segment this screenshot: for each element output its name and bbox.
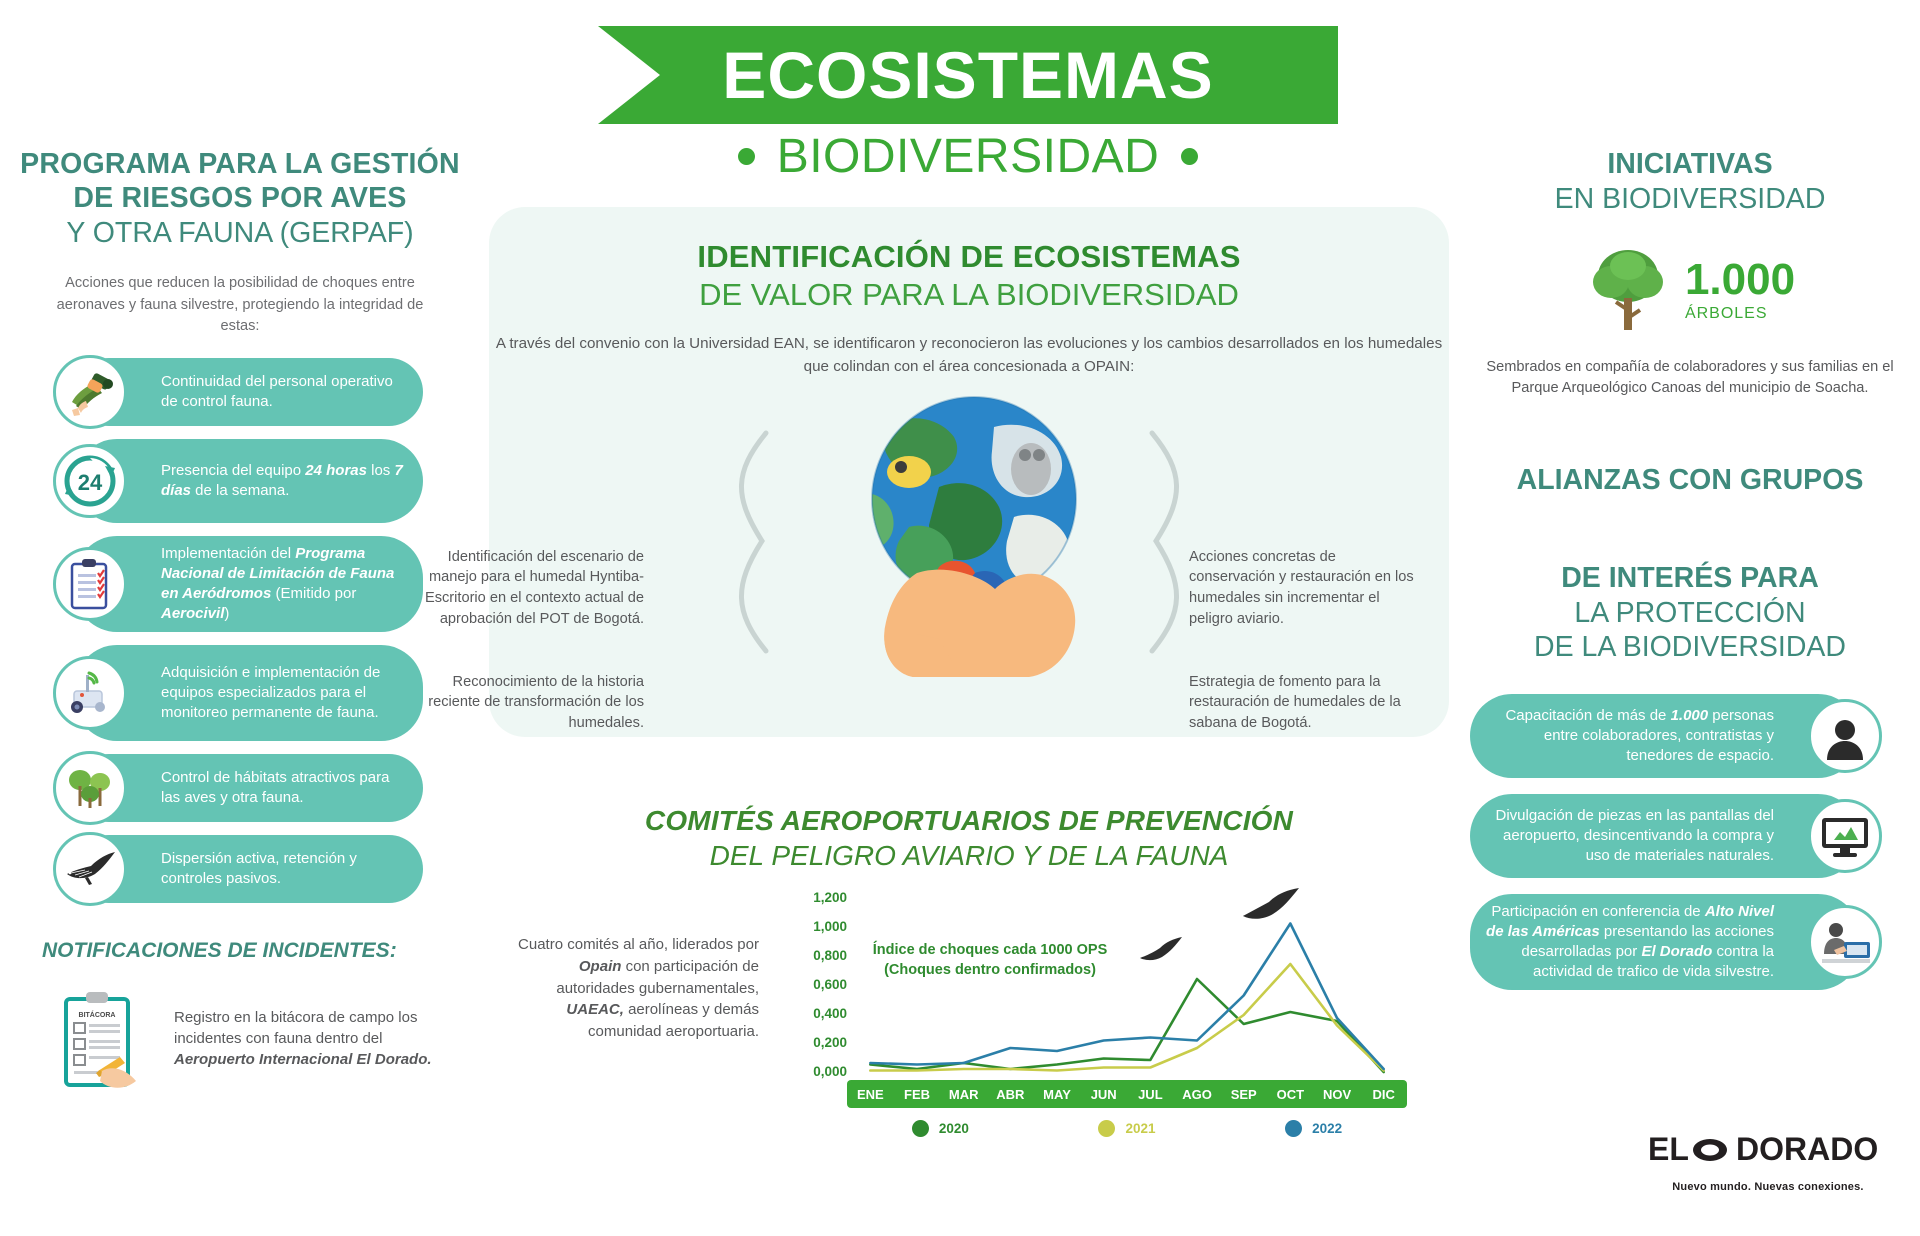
list-item-text-pre: Capacitación de más de: [1505, 707, 1670, 724]
y-tick-label: 0,000: [777, 1064, 847, 1079]
right-heading2-line1: ALIANZAS CON GRUPOS: [1470, 463, 1910, 497]
24-hours-icon: 24: [53, 444, 127, 518]
list-item-label: Dispersión activa, retención y controles…: [161, 849, 409, 889]
y-tick-label: 0,200: [777, 1035, 847, 1050]
list-item-text-pre: Participación en conferencia de: [1491, 903, 1704, 920]
list-item[interactable]: Participación en conferencia de Alto Niv…: [1470, 894, 1860, 990]
binoculars-icon: [53, 355, 127, 429]
center-paragraph: A través del convenio con la Universidad…: [489, 333, 1449, 379]
list-item[interactable]: Implementación del Programa Nacional de …: [75, 536, 423, 632]
bullet-dot-right-icon: [1181, 148, 1198, 165]
list-item-text-post: ): [224, 605, 229, 622]
left-pill-list: Continuidad del personal operativo de co…: [20, 358, 460, 903]
list-item-bold: 1.000: [1671, 707, 1709, 724]
annotation-left-top: Identificación del escenario de manejo p…: [404, 547, 644, 630]
list-item-text-mid: los: [367, 462, 395, 479]
x-tick-label: ENE: [847, 1087, 894, 1102]
left-heading-line3: Y OTRA FAUNA (GERPAF): [20, 216, 460, 250]
chart-side-bold-1: Opain: [579, 958, 622, 975]
tree-stat-row: 1.000 ÁRBOLES: [1470, 242, 1910, 339]
list-item[interactable]: Control de hábitats atractivos para las …: [75, 754, 423, 822]
legend-swatch-2020: [912, 1120, 929, 1137]
trees-icon: [53, 751, 127, 825]
center-heading-bold: IDENTIFICACIÓN DE ECOSISTEMAS: [489, 239, 1449, 275]
legend-label: 2020: [939, 1121, 969, 1136]
legend-label: 2022: [1312, 1121, 1342, 1136]
list-item-label: Divulgación de piezas en las pantallas d…: [1486, 806, 1774, 866]
list-item-text-pre: Presencia del equipo: [161, 462, 305, 479]
clipboard-pen-icon: BITÁCORA: [50, 985, 160, 1105]
x-tick-label: OCT: [1267, 1087, 1314, 1102]
x-tick-label: DIC: [1360, 1087, 1407, 1102]
list-item[interactable]: Continuidad del personal operativo de co…: [75, 358, 423, 426]
globe-area: Identificación del escenario de manejo p…: [489, 387, 1449, 667]
y-axis: 1,200 1,000 0,800 0,600 0,400 0,200 0,00…: [769, 898, 847, 1078]
legend-item[interactable]: 2022: [1220, 1120, 1407, 1137]
list-item-bold-1: 24 horas: [305, 462, 367, 479]
y-tick-label: 1,200: [777, 890, 847, 905]
tree-stat-text: 1.000 ÁRBOLES: [1685, 258, 1795, 323]
y-tick-label: 0,400: [777, 1006, 847, 1021]
annotation-left-bottom: Reconocimiento de la historia reciente d…: [404, 672, 644, 734]
x-tick-label: JUL: [1127, 1087, 1174, 1102]
chart-heading-light: DEL PELIGRO AVIARIO Y DE LA FAUNA: [489, 840, 1449, 872]
right-heading-light: EN BIODIVERSIDAD: [1470, 182, 1910, 216]
y-tick-label: 0,800: [777, 948, 847, 963]
left-intro-text: Acciones que reducen la posibilidad de c…: [20, 273, 460, 336]
x-tick-label: NOV: [1314, 1087, 1361, 1102]
series-line-2022: [870, 924, 1383, 1070]
chart-plot-area: [847, 898, 1407, 1078]
series-line-2020: [870, 979, 1383, 1072]
monitoring-device-icon: [53, 656, 127, 730]
legend-item[interactable]: 2020: [847, 1120, 1034, 1137]
list-item-text-post: de la semana.: [191, 482, 289, 499]
tree-unit: ÁRBOLES: [1685, 305, 1795, 323]
x-tick-label: AGO: [1174, 1087, 1221, 1102]
list-item[interactable]: 24 Presencia del equipo 24 horas los 7 d…: [75, 439, 423, 523]
page-subtitle: BIODIVERSIDAD: [598, 128, 1338, 184]
list-item-text-mid: (Emitido por: [271, 585, 356, 602]
clipboard-checklist-icon: [53, 547, 127, 621]
left-heading-line2: DE RIESGOS POR AVES: [20, 182, 460, 216]
list-item-label: Presencia del equipo 24 horas los 7 días…: [161, 461, 409, 501]
svg-text:24: 24: [78, 470, 103, 495]
list-item[interactable]: Divulgación de piezas en las pantallas d…: [1470, 794, 1860, 878]
y-tick-label: 1,000: [777, 919, 847, 934]
infographic-root: ECOSISTEMAS BIODIVERSIDAD PROGRAMA PARA …: [0, 0, 1920, 1236]
x-tick-label: FEB: [894, 1087, 941, 1102]
tree-caption: Sembrados en compañía de colaboradores y…: [1470, 357, 1910, 399]
logo-text-left: EL: [1648, 1131, 1689, 1167]
notifications-text-bold: Aeropuerto Internacional El Dorado.: [174, 1051, 432, 1068]
chart-legend: 2020 2021 2022: [847, 1120, 1407, 1137]
annotation-right-bottom: Estrategia de fomento para la restauraci…: [1189, 672, 1414, 734]
chart-side-pre: Cuatro comités al año, liderados por: [518, 936, 759, 953]
chart-side-bold-2: UAEAC,: [566, 1001, 624, 1018]
hand-holding-globe-icon: [789, 377, 1159, 677]
tree-icon: [1585, 242, 1671, 339]
notifications-text: Registro en la bitácora de campo los inc…: [174, 1007, 460, 1070]
annotation-right-top: Acciones concretas de conservación y res…: [1189, 547, 1414, 630]
center-heading-light: DE VALOR PARA LA BIODIVERSIDAD: [489, 277, 1449, 313]
page-title: ECOSISTEMAS: [598, 26, 1338, 124]
header-ribbon: ECOSISTEMAS: [598, 26, 1338, 124]
x-tick-label: ABR: [987, 1087, 1034, 1102]
list-item-label: Implementación del Programa Nacional de …: [161, 544, 409, 624]
x-tick-label: MAY: [1034, 1087, 1081, 1102]
x-axis-month-labels: ENE FEB MAR ABR MAY JUN JUL AGO SEP OCT …: [847, 1080, 1407, 1108]
list-item[interactable]: Adquisición e implementación de equipos …: [75, 645, 423, 741]
center-panel: IDENTIFICACIÓN DE ECOSISTEMAS DE VALOR P…: [489, 207, 1449, 737]
left-column: PROGRAMA PARA LA GESTIÓN DE RIESGOS POR …: [20, 148, 460, 1105]
tree-number: 1.000: [1685, 258, 1795, 302]
right-heading2-line4: DE LA BIODIVERSIDAD: [1470, 630, 1910, 664]
notifications-heading: NOTIFICACIONES DE INCIDENTES:: [42, 939, 460, 963]
y-tick-label: 0,600: [777, 977, 847, 992]
flying-bird-icon: [53, 832, 127, 906]
right-column: INICIATIVAS EN BIODIVERSIDAD 1.000 ÁRBOL…: [1470, 148, 1910, 1006]
logo-tagline: Nuevo mundo. Nuevas conexiones.: [1648, 1181, 1888, 1193]
list-item[interactable]: Capacitación de más de 1.000 personas en…: [1470, 694, 1860, 778]
list-item-bold-2: El Dorado: [1641, 943, 1712, 960]
series-line-2021: [870, 964, 1383, 1071]
list-item[interactable]: Dispersión activa, retención y controles…: [75, 835, 423, 903]
list-item-label: Continuidad del personal operativo de co…: [161, 372, 409, 412]
list-item-label: Capacitación de más de 1.000 personas en…: [1486, 706, 1774, 766]
x-tick-label: JUN: [1080, 1087, 1127, 1102]
list-item-label: Participación en conferencia de Alto Niv…: [1486, 902, 1774, 982]
brand-logo: EL DORADO Nuevo mundo. Nuevas conexiones…: [1648, 1130, 1888, 1193]
notifications-body: BITÁCORA Registro en la bitácora de c: [50, 985, 460, 1105]
el-dorado-logo-icon: EL DORADO: [1648, 1130, 1888, 1170]
right-heading2-line2: DE INTERÉS PARA: [1470, 561, 1910, 595]
chart-body: Cuatro comités al año, liderados por Opa…: [489, 898, 1449, 1148]
bird-silhouette-icon: [1137, 936, 1185, 972]
list-item-label: Adquisición e implementación de equipos …: [161, 663, 409, 723]
x-tick-label: SEP: [1220, 1087, 1267, 1102]
notifications-text-pre: Registro en la bitácora de campo los inc…: [174, 1009, 417, 1047]
monitor-icon: [1808, 799, 1882, 873]
right-heading2-line3: LA PROTECCIÓN: [1470, 596, 1910, 630]
legend-swatch-2022: [1285, 1120, 1302, 1137]
list-item-bold-2: Aerocivil: [161, 605, 224, 622]
right-heading-bold: INICIATIVAS: [1470, 148, 1910, 182]
x-tick-label: MAR: [940, 1087, 987, 1102]
logo-text-right: DORADO: [1736, 1131, 1878, 1167]
right-pill-list: Capacitación de más de 1.000 personas en…: [1470, 694, 1910, 990]
legend-swatch-2021: [1098, 1120, 1115, 1137]
bitacora-label: BITÁCORA: [79, 1010, 116, 1019]
left-bracket-icon: [714, 427, 774, 657]
list-item-text-pre: Implementación del: [161, 545, 295, 562]
legend-item[interactable]: 2021: [1034, 1120, 1221, 1137]
list-item-label: Control de hábitats atractivos para las …: [161, 768, 409, 808]
bullet-dot-left-icon: [738, 148, 755, 165]
line-chart: 1,200 1,000 0,800 0,600 0,400 0,200 0,00…: [769, 898, 1429, 1148]
bird-silhouette-icon: [1239, 886, 1303, 934]
chart-side-text: Cuatro comités al año, liderados por Opa…: [499, 934, 759, 1043]
chart-heading-bold: COMITÉS AEROPORTUARIOS DE PREVENCIÓN: [489, 805, 1449, 837]
chart-section: COMITÉS AEROPORTUARIOS DE PREVENCIÓN DEL…: [489, 805, 1449, 1205]
legend-label: 2021: [1125, 1121, 1155, 1136]
presenter-icon: [1808, 905, 1882, 979]
page-subtitle-text: BIODIVERSIDAD: [777, 129, 1160, 184]
left-heading-line1: PROGRAMA PARA LA GESTIÓN: [20, 148, 460, 182]
person-icon: [1808, 699, 1882, 773]
